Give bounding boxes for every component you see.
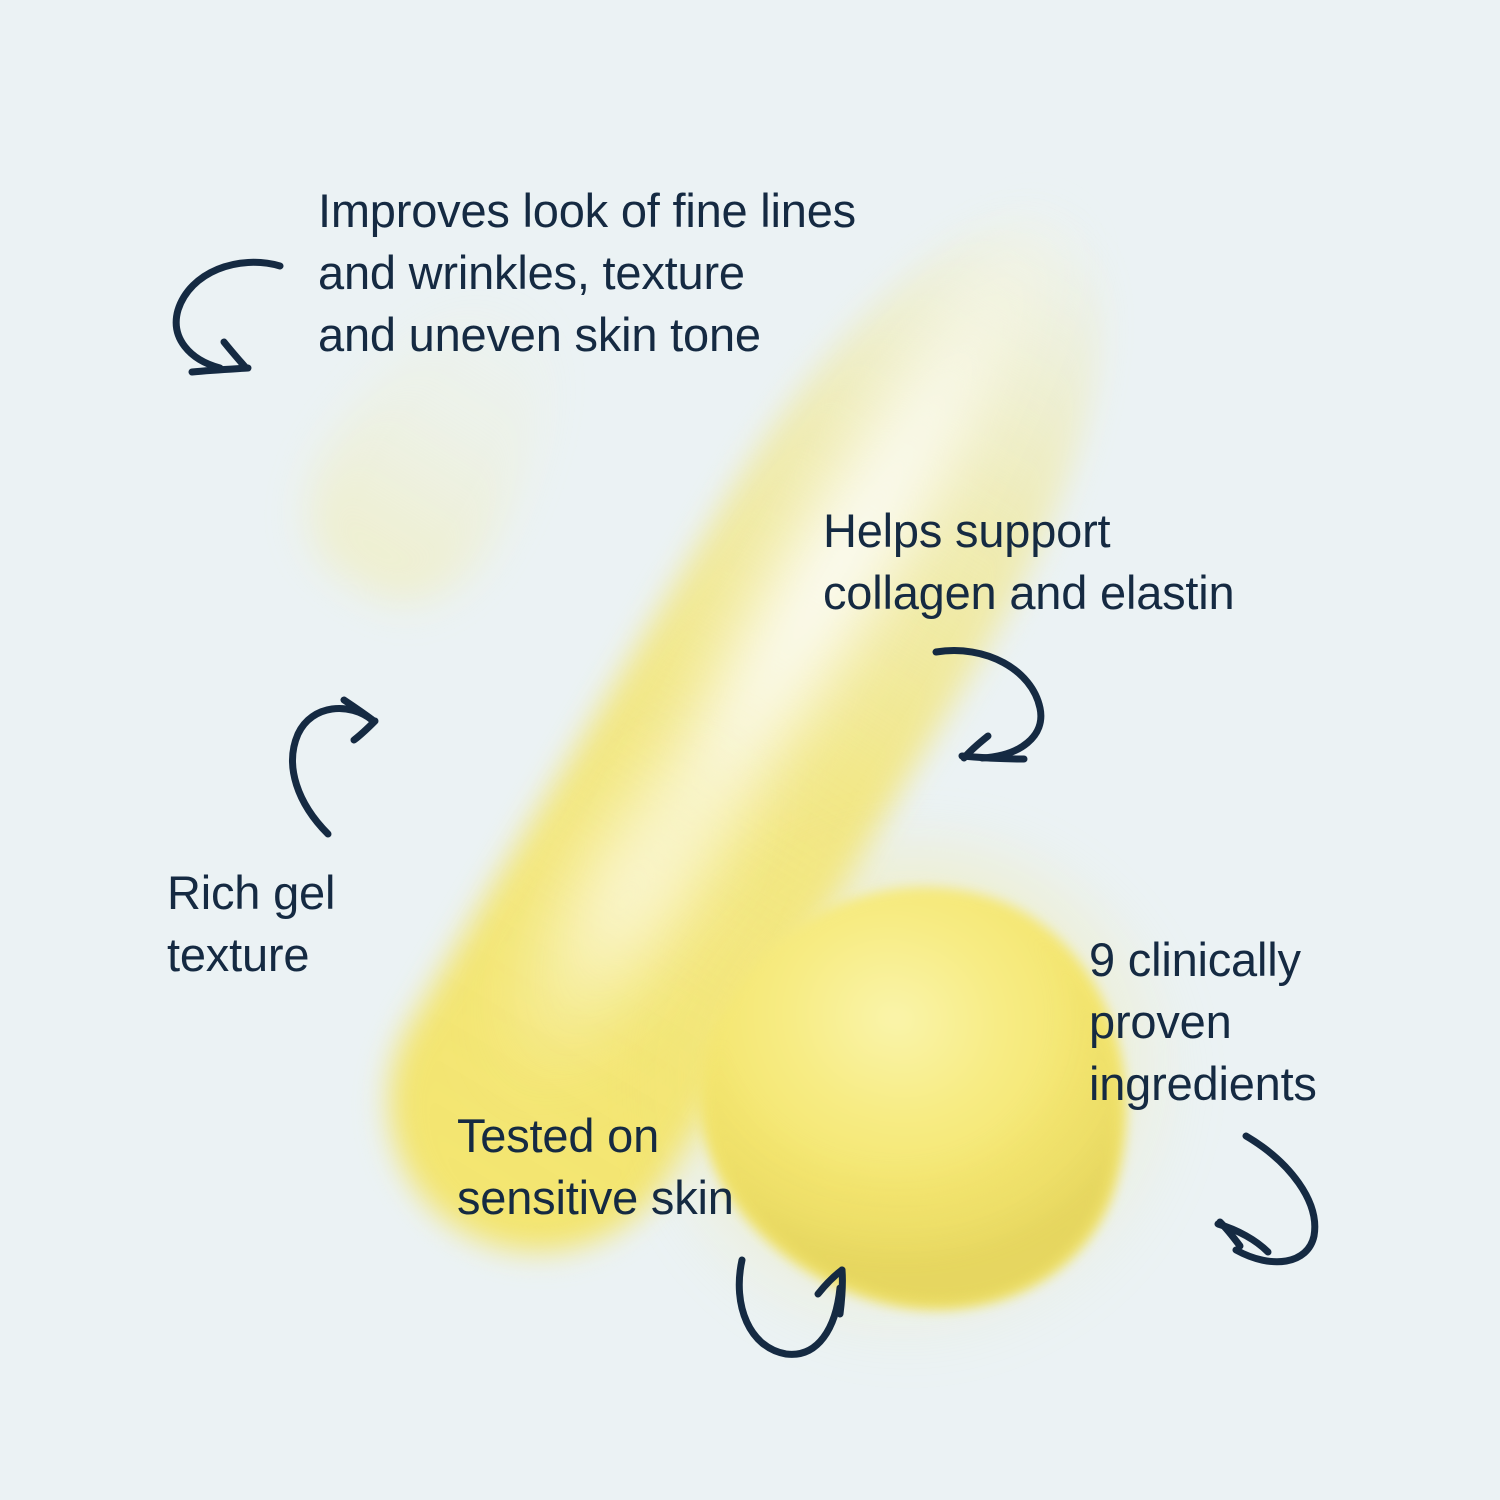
product-infographic: Improves look of fine lines and wrinkles… [0, 0, 1500, 1500]
annotation-label-sensitive-skin: Tested on sensitive skin [457, 1105, 734, 1229]
curved-arrow-left-icon [1198, 1126, 1343, 1281]
annotation-label-ingredients: 9 clinically proven ingredients [1089, 929, 1317, 1115]
curved-arrow-down-left-icon [928, 636, 1053, 771]
annotation-label-rich-gel: Rich gel texture [167, 862, 335, 986]
curved-arrow-up-right-icon [272, 694, 382, 839]
annotation-label-collagen: Helps support collagen and elastin [823, 500, 1234, 624]
curved-arrow-down-right-icon [168, 248, 288, 383]
annotation-label-fine-lines: Improves look of fine lines and wrinkles… [318, 180, 856, 366]
curved-arrow-up-icon [716, 1252, 866, 1392]
